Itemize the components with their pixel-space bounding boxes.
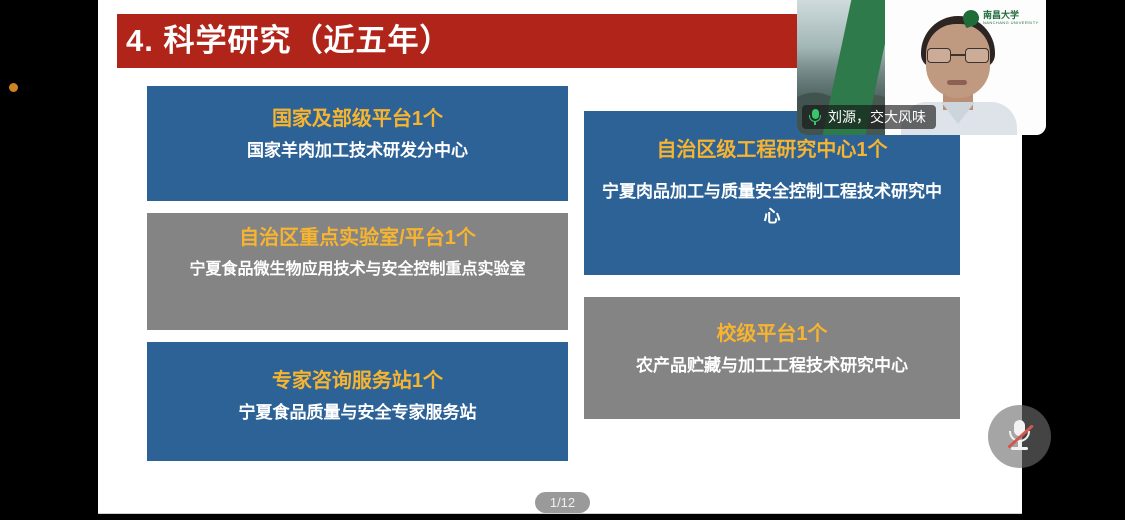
participant-video-tile[interactable]: 南昌大学 NANCHANG UNIVERSITY 刘源，交大风味 xyxy=(797,0,1046,135)
platform-card-body: 宁夏食品微生物应用技术与安全控制重点实验室 xyxy=(189,257,525,282)
mute-toggle-button[interactable] xyxy=(988,405,1051,468)
person-mouth xyxy=(947,80,967,85)
university-logo: 南昌大学 NANCHANG UNIVERSITY xyxy=(963,7,1037,29)
platform-card-school-platform: 校级平台1个 农产品贮藏与加工工程技术研究中心 xyxy=(584,297,960,419)
participant-name: 刘源，交大风味 xyxy=(828,105,926,129)
platform-card-body: 国家羊肉加工技术研发分中心 xyxy=(247,138,468,163)
participant-name-badge: 刘源，交大风味 xyxy=(802,105,936,129)
leaf-icon xyxy=(961,8,982,29)
platform-card-heading: 校级平台1个 xyxy=(716,319,827,349)
platform-card-key-laboratory: 自治区重点实验室/平台1个 宁夏食品微生物应用技术与安全控制重点实验室 xyxy=(147,213,568,330)
platform-card-body: 宁夏肉品加工与质量安全控制工程技术研究中心 xyxy=(594,179,950,229)
page-indicator: 1/12 xyxy=(535,492,590,513)
university-logo-subtext: NANCHANG UNIVERSITY xyxy=(983,20,1039,25)
platform-card-heading: 专家咨询服务站1个 xyxy=(272,366,443,396)
university-logo-text: 南昌大学 xyxy=(983,11,1039,20)
microphone-on-icon xyxy=(808,109,822,125)
platform-card-body: 农产品贮藏与加工工程技术研究中心 xyxy=(636,353,908,378)
platform-card-heading: 自治区级工程研究中心1个 xyxy=(656,135,887,165)
platform-card-expert-station: 专家咨询服务站1个 宁夏食品质量与安全专家服务站 xyxy=(147,342,568,461)
platform-card-engineering-center: 自治区级工程研究中心1个 宁夏肉品加工与质量安全控制工程技术研究中心 xyxy=(584,111,960,275)
platform-card-heading: 自治区重点实验室/平台1个 xyxy=(239,223,476,253)
slide-bottom-divider xyxy=(98,513,1022,514)
platform-card-national: 国家及部级平台1个 国家羊肉加工技术研发分中心 xyxy=(147,86,568,201)
platform-card-body: 宁夏食品质量与安全专家服务站 xyxy=(239,400,477,425)
meeting-screen-share-view: 4. 科学研究（近五年） 国家及部级平台1个 国家羊肉加工技术研发分中心 自治区… xyxy=(0,0,1125,520)
page-title: 4. 科学研究（近五年） xyxy=(126,22,451,60)
glasses-icon xyxy=(927,48,989,63)
platform-card-heading: 国家及部级平台1个 xyxy=(272,104,443,134)
microphone-muted-icon xyxy=(1007,420,1032,453)
slide-title-banner: 4. 科学研究（近五年） xyxy=(117,14,897,68)
pointer-dot xyxy=(9,83,18,92)
